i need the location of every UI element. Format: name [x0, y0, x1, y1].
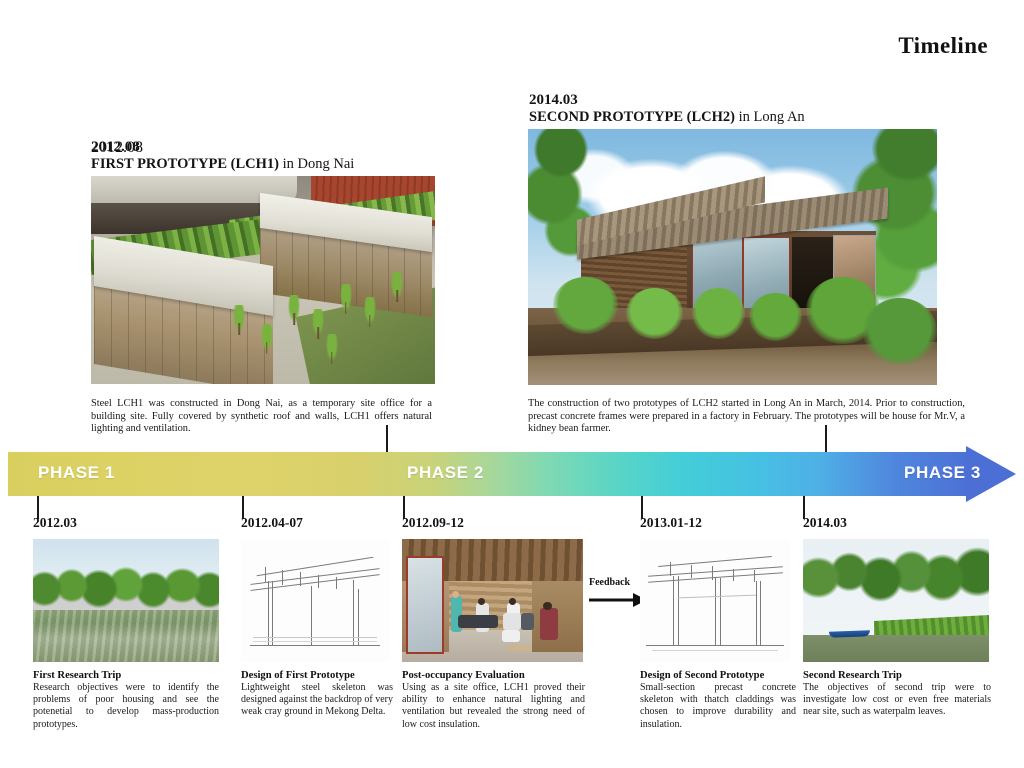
bottom-event-5-title: Second Research Trip [803, 669, 991, 682]
bottom-event-4-caption: Small-section precast concrete skeleton … [640, 682, 796, 731]
feedback-label: Feedback [589, 577, 630, 588]
top-event-2-heading: SECOND PROTOTYPE (LCH2) in Long An [529, 109, 969, 126]
bottom-event-1-caption: Research objectives were to identify the… [33, 682, 219, 731]
top-event-2-heading-bold: SECOND PROTOTYPE (LCH2) [529, 109, 735, 125]
page-title: Timeline [898, 33, 988, 59]
bottom-event-1-date: 2012.03 [33, 515, 77, 531]
bottom-event-3-title: Post-occupancy Evaluation [402, 669, 585, 682]
top-event-1-photo [91, 176, 435, 384]
tick-above-2 [825, 425, 827, 452]
bottom-event-4-date: 2013.01-12 [640, 515, 702, 531]
bottom-event-4-sketch [640, 539, 790, 662]
top-event-1-heading-bold: FIRST PROTOTYPE (LCH1) [91, 156, 279, 172]
feedback-arrow-icon [589, 592, 647, 608]
bottom-event-3-caption: Using as a site office, LCH1 proved thei… [402, 682, 585, 731]
top-event-2-heading-rest: in Long An [735, 109, 805, 125]
bottom-event-5-photo [803, 539, 989, 662]
top-event-1-heading: FIRST PROTOTYPE (LCH1) in Dong Nai [91, 156, 451, 173]
tick-above-1 [386, 425, 388, 452]
bottom-event-2-sketch [241, 539, 389, 662]
phase-arrow: PHASE 1 PHASE 2 PHASE 3 [8, 452, 1016, 496]
phase-arrow-body [8, 452, 973, 496]
bottom-event-3-photo [402, 539, 583, 662]
timeline-infographic: Timeline 2012.08 2012.08 FIRST PROTOTYPE… [0, 0, 1024, 768]
bottom-event-3-date: 2012.09-12 [402, 515, 464, 531]
bottom-event-1-photo [33, 539, 219, 662]
top-event-1-caption: Steel LCH1 was constructed in Dong Nai, … [91, 398, 432, 436]
top-event-1-heading-rest: in Dong Nai [279, 156, 354, 172]
top-event-2-caption: The construction of two prototypes of LC… [528, 398, 965, 436]
bottom-event-1-title: First Research Trip [33, 669, 219, 682]
top-event-2-date: 2014.03 [529, 92, 749, 109]
phase-label-2: PHASE 2 [407, 463, 484, 483]
bottom-event-5-date: 2014.03 [803, 515, 847, 531]
bottom-event-4-title: Design of Second Prototype [640, 669, 796, 682]
bottom-event-5-caption: The objectives of second trip were to in… [803, 682, 991, 719]
bottom-event-2-title: Design of First Prototype [241, 669, 393, 682]
phase-label-3: PHASE 3 [904, 463, 981, 483]
top-event-1-date-text: 2012.08 [91, 139, 291, 156]
phase-label-1: PHASE 1 [38, 463, 115, 483]
bottom-event-2-caption: Lightweight steel skeleton was designed … [241, 682, 393, 719]
bottom-event-2-date: 2012.04-07 [241, 515, 303, 531]
top-event-2-photo [528, 129, 937, 385]
